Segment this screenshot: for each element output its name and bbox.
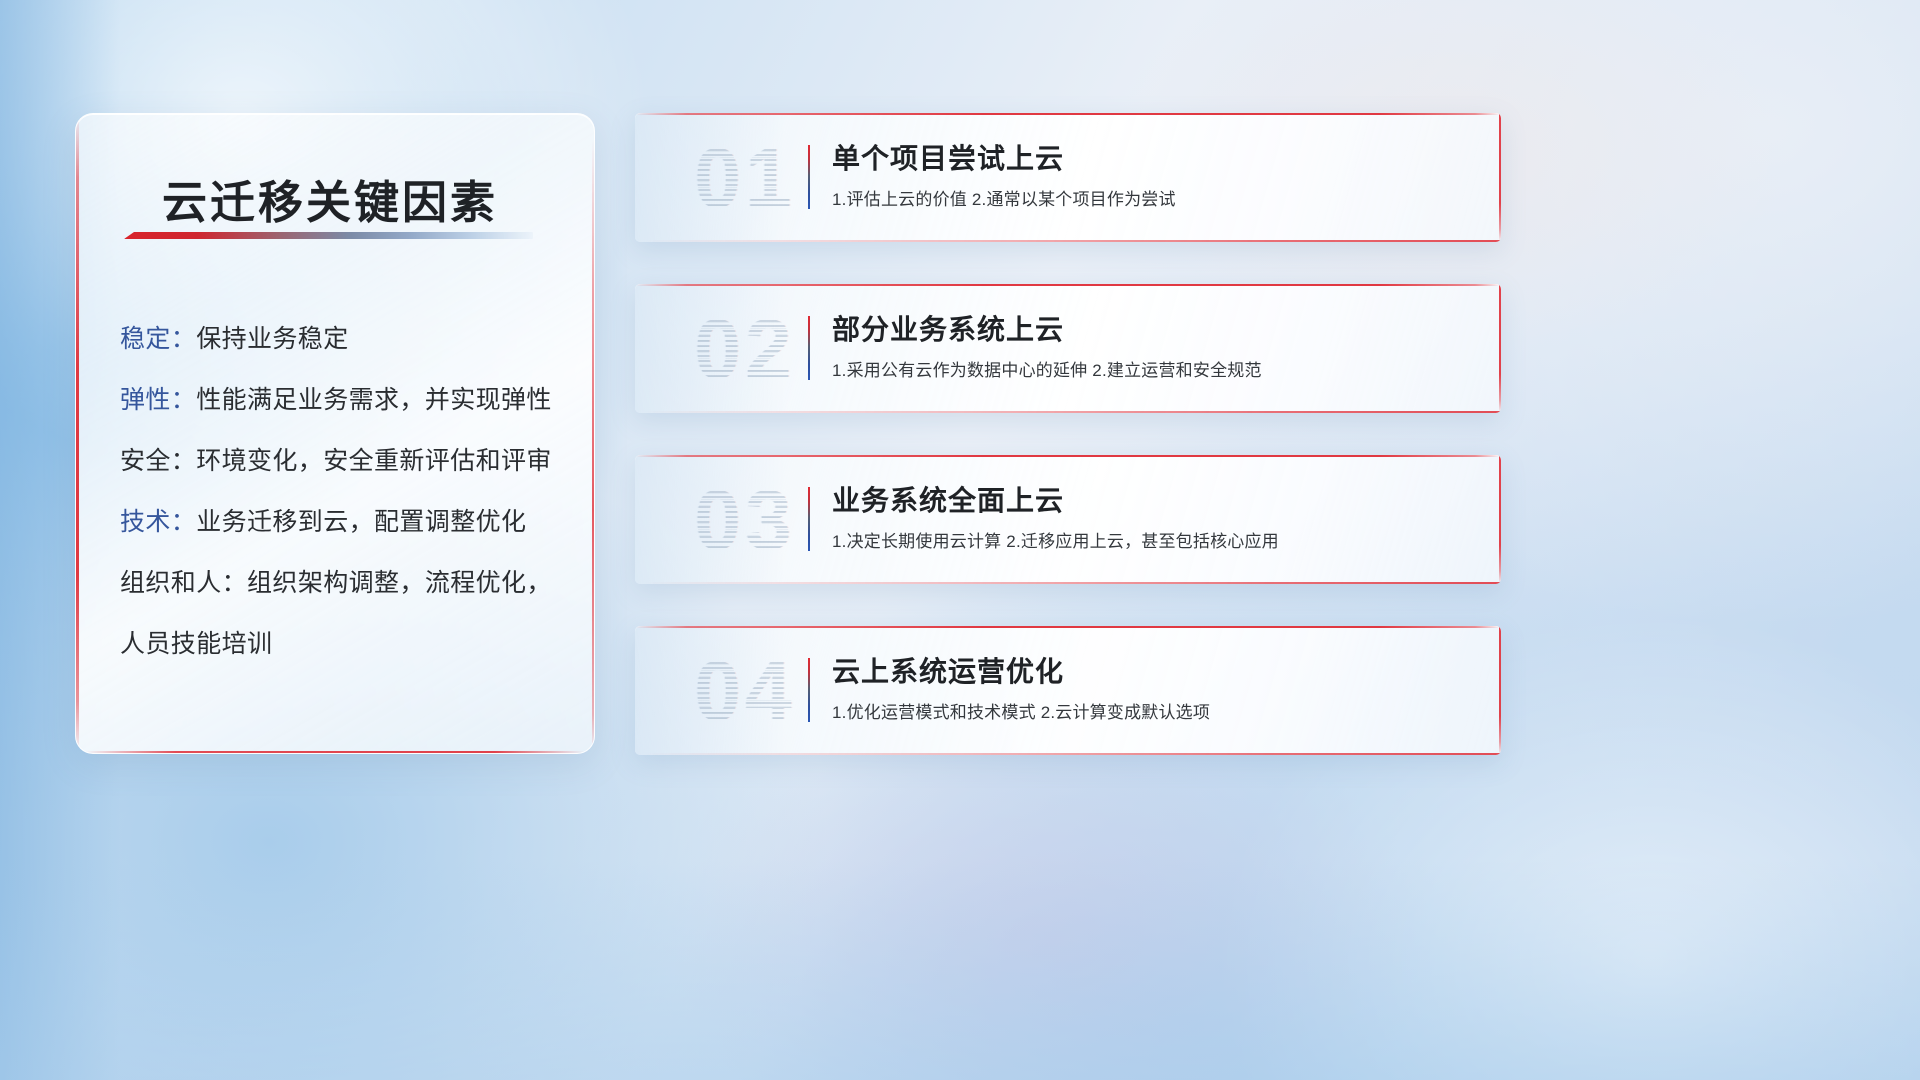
stage-card-04[interactable]: 04 04 云上系统运营优化 1.优化运营模式和技术模式 2.云计算变成默认选项 [635,626,1501,755]
list-item: 弹性：性能满足业务需求，并实现弹性 [120,370,574,431]
card-title: 单个项目尝试上云 [832,137,1064,177]
list-item-key: 稳定： [120,325,196,353]
card-description: 1.优化运营模式和技术模式 2.云计算变成默认选项 [832,698,1210,723]
list-item-text: 环境变化，安全重新评估和评审 [196,447,552,475]
card-title: 业务系统全面上云 [832,479,1064,519]
card-bottom-accent [643,582,1501,584]
card-divider-bar [808,487,810,551]
card-right-accent [1499,284,1501,413]
card-top-accent [635,113,1501,115]
card-divider-bar [808,658,810,722]
list-item: 技术：业务迁移到云，配置调整优化 [120,492,574,553]
list-item-key: 弹性： [120,386,196,414]
page-title: 云迁移关键因素 [162,166,498,231]
card-bottom-accent [643,753,1501,755]
list-item: 稳定：保持业务稳定 [120,309,574,370]
list-item-text: 保持业务稳定 [196,325,348,353]
card-top-accent [635,284,1501,286]
list-item-text: 性能满足业务需求，并实现弹性 [196,386,552,414]
card-title: 部分业务系统上云 [832,308,1064,348]
card-bottom-accent [643,411,1501,413]
stage-card-01[interactable]: 01 01 单个项目尝试上云 1.评估上云的价值 2.通常以某个项目作为尝试 [635,113,1501,242]
list-item-text: 业务迁移到云，配置调整优化 [196,508,526,536]
list-item-text: 人员技能培训 [120,630,272,658]
list-item: 安全：环境变化，安全重新评估和评审 [120,431,574,492]
card-description: 1.采用公有云作为数据中心的延伸 2.建立运营和安全规范 [832,356,1262,381]
card-title: 云上系统运营优化 [832,650,1064,690]
card-divider-bar [808,316,810,380]
list-item-key: 组织和人： [120,569,247,597]
card-right-accent [1499,113,1501,242]
title-underline-gradient [124,232,533,239]
stage-card-02[interactable]: 02 02 部分业务系统上云 1.采用公有云作为数据中心的延伸 2.建立运营和安… [635,284,1501,413]
card-top-accent [635,626,1501,628]
key-factors-panel: 云迁移关键因素 稳定：保持业务稳定 弹性：性能满足业务需求，并实现弹性 安全：环… [75,113,595,754]
card-description: 1.评估上云的价值 2.通常以某个项目作为尝试 [832,185,1176,210]
list-item-text: 组织架构调整，流程优化， [247,569,552,597]
card-divider-bar [808,145,810,209]
list-item: 组织和人：组织架构调整，流程优化， [120,553,574,614]
list-item: 人员技能培训 [120,614,574,675]
card-description: 1.决定长期使用云计算 2.迁移应用上云，甚至包括核心应用 [832,527,1279,552]
list-item-key: 技术： [120,508,196,536]
panel-bottom-accent-line [86,751,584,753]
slide-stage: 云迁移关键因素 稳定：保持业务稳定 弹性：性能满足业务需求，并实现弹性 安全：环… [0,0,1920,1080]
card-bottom-accent [643,240,1501,242]
stage-card-03[interactable]: 03 03 业务系统全面上云 1.决定长期使用云计算 2.迁移应用上云，甚至包括… [635,455,1501,584]
key-factors-list: 稳定：保持业务稳定 弹性：性能满足业务需求，并实现弹性 安全：环境变化，安全重新… [120,309,574,675]
card-top-accent [635,455,1501,457]
list-item-key: 安全： [120,447,196,475]
card-right-accent [1499,455,1501,584]
card-right-accent [1499,626,1501,755]
